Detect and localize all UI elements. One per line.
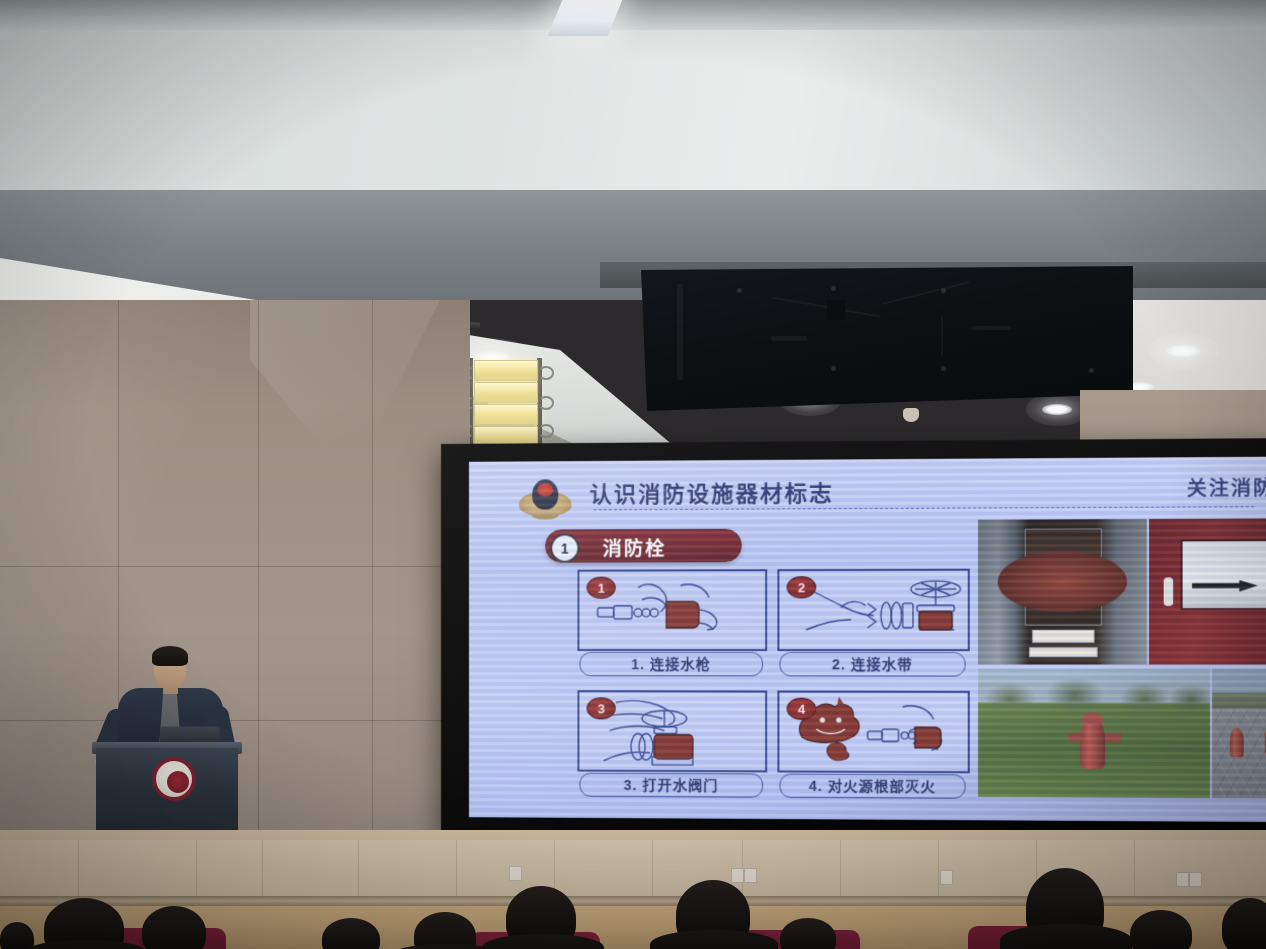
step-illustration-box: 3 [577,690,767,772]
police-badge-icon [519,477,571,525]
step-illustration-box: 4 [777,691,969,774]
step-number: 2 [787,576,817,598]
step-number: 1 [587,577,616,599]
section-pill: 1 消防栓 [545,529,741,563]
led-display-screen: 认识消防设施器材标志 关注消防 人 1 消防栓 [441,438,1266,850]
podium-crest-icon [152,757,196,801]
wall-outlet-icon [509,866,522,881]
step-number: 4 [787,698,817,720]
step-cell: 1 1. 连接水枪 [577,569,765,680]
photo-red-hydrant-cabinet [1149,518,1266,664]
step-cell: 3 3. 打开水阀门 [577,690,765,802]
slide-surface: 认识消防设施器材标志 关注消防 人 1 消防栓 [469,457,1266,823]
ceiling-top-shadow-band [0,0,1266,30]
step-cell: 2 2. 连接水带 [777,569,967,681]
photo-collage [978,518,1266,822]
slide-tagline: 关注消防 人 [1187,473,1266,501]
wall-outlet-icon [731,868,744,883]
wall-outlet-icon [1189,872,1202,887]
speaker-hair [152,646,188,666]
step-cell: 4 4. 对火源根部灭火 [777,691,967,803]
wall-outlet-icon [940,870,953,885]
step-illustration-box: 2 [777,569,969,651]
photo-hydrant-cabinet-interior [978,519,1147,665]
downlight-glow [1148,332,1220,370]
dome-camera-icon [903,408,919,422]
wall-outlet-icon [1176,872,1189,887]
steps-grid: 1 1. 连接水枪 [577,569,967,803]
auditorium-photo: 认识消防设施器材标志 关注消防 人 1 消防栓 [0,0,1266,949]
step-illustration-box: 1 [577,569,767,651]
section-number: 1 [550,533,579,562]
ceiling-tv-panel [641,266,1133,411]
audience-shoulders [1000,924,1132,949]
step-caption: 4. 对火源根部灭火 [779,774,965,799]
audience-head [142,906,206,949]
step-caption: 1. 连接水枪 [579,652,763,676]
led-light-array [468,358,542,448]
wall-outlet-icon [744,868,757,883]
photo-hydrants-on-pavement [1212,669,1266,799]
audience-head [0,922,34,949]
step-caption: 3. 打开水阀门 [579,773,763,798]
step-caption: 2. 连接水带 [779,652,965,676]
step-number: 3 [587,697,616,719]
section-label: 消防栓 [603,534,667,561]
slide-title: 认识消防设施器材标志 [590,476,834,510]
photo-hydrant-on-lawn [978,668,1210,798]
